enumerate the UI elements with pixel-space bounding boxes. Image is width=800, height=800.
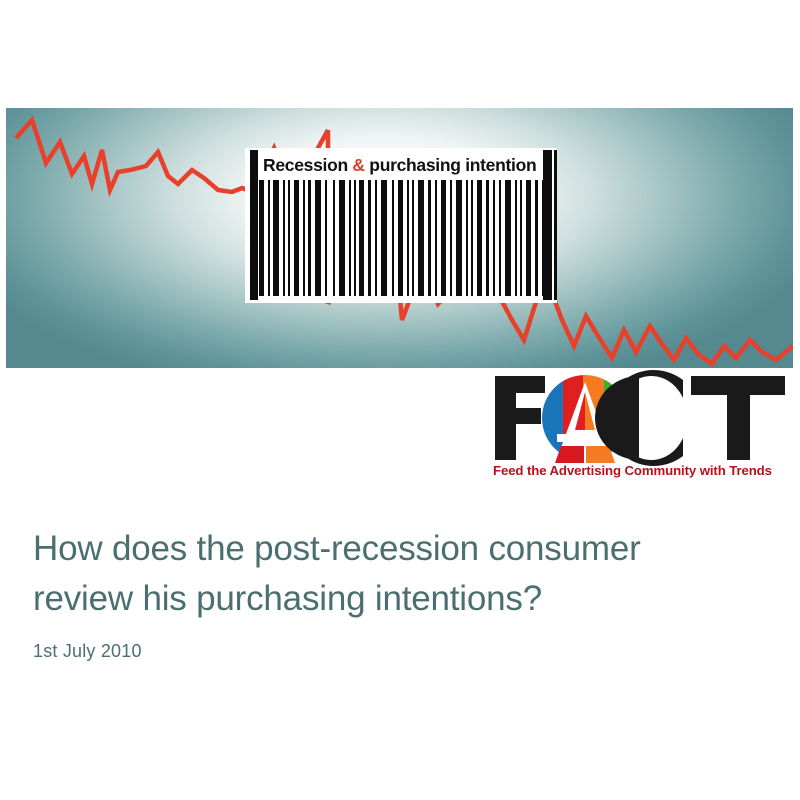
slide-date: 1st July 2010: [33, 641, 763, 662]
fact-logo: Feed the Advertising Community with Tren…: [487, 368, 793, 478]
barcode-title-ampersand: &: [352, 155, 364, 175]
barcode-title-part-1: Recession: [263, 155, 352, 175]
barcode-graphic: Recession & purchasing intention: [245, 148, 557, 303]
page-title: How does the post-recession consumer rev…: [33, 524, 763, 623]
barcode-title-part-2: purchasing intention: [365, 155, 537, 175]
recession-banner: Recession & purchasing intention: [6, 108, 793, 368]
barcode-bars: [251, 180, 551, 296]
barcode-title-text: Recession & purchasing intention: [263, 155, 539, 176]
logo-letter-t: [691, 376, 785, 460]
fact-logo-svg: Feed the Advertising Community with Tren…: [487, 368, 793, 478]
logo-letter-f: [495, 376, 545, 460]
title-block: How does the post-recession consumer rev…: [33, 524, 763, 662]
page-title-line-1: How does the post-recession consumer: [33, 529, 641, 568]
logo-segment-blue: [542, 375, 563, 461]
slide-root: Recession & purchasing intention: [0, 0, 800, 800]
barcode-guard-bar-right: [543, 150, 552, 300]
barcode-guard-bar-right-outer: [554, 150, 557, 300]
logo-tagline: Feed the Advertising Community with Tren…: [493, 463, 772, 478]
page-title-line-2: review his purchasing intentions?: [33, 579, 542, 618]
